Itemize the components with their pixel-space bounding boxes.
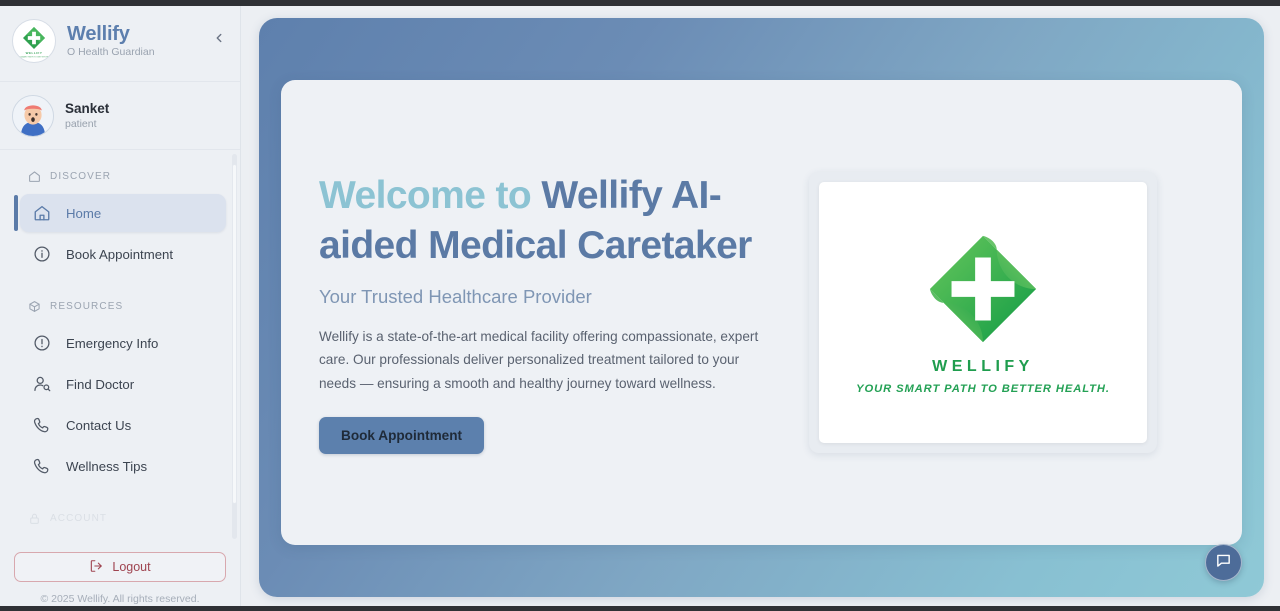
section-header-account-label: ACCOUNT [50,513,107,524]
nav-spacer [0,488,240,504]
user-profile-row[interactable]: Sanket patient [0,82,240,150]
sidebar-scrollbar-thumb[interactable] [232,164,237,504]
section-header-discover: DISCOVER [0,162,240,191]
app-window: WELLIFY YOUR SMART PATH TO BETTER HEALTH… [0,0,1280,611]
section-header-resources: RESOURCES [0,292,240,321]
section-header-resources-label: RESOURCES [50,301,123,312]
logout-label: Logout [112,560,150,574]
sidebar-item-contact-us-label: Contact Us [66,418,131,433]
sidebar-item-wellness-tips-label: Wellness Tips [66,459,147,474]
info-circle-icon [33,245,51,263]
user-avatar-icon [12,95,54,137]
section-header-discover-label: DISCOVER [50,171,111,182]
brand-text-group: Wellify O Health Guardian [67,23,155,58]
window-bottom-strip [0,606,1280,611]
logout-button[interactable]: Logout [14,552,226,582]
sidebar-item-book-appointment[interactable]: Book Appointment [20,235,226,273]
sidebar-item-home[interactable]: Home [20,194,226,232]
user-role: patient [65,118,109,130]
package-icon [28,300,41,313]
chat-fab-button[interactable] [1205,544,1242,581]
nav-spacer [0,276,240,292]
logout-icon [89,559,103,576]
message-square-icon [1215,552,1232,574]
section-header-account: ACCOUNT [0,504,240,533]
sidebar-item-emergency-info[interactable]: Emergency Info [20,324,226,362]
svg-text:YOUR SMART PATH TO BETTER HEAL: YOUR SMART PATH TO BETTER HEALTH [14,55,54,58]
logo-frame: WELLIFY YOUR SMART PATH TO BETTER HEALTH… [809,172,1157,453]
headline-light-part: Welcome to [319,174,541,217]
brand-name: Wellify [67,23,155,45]
user-search-icon [33,375,51,393]
main-content: Welcome to Wellify AI-aided Medical Care… [241,0,1280,611]
sidebar: WELLIFY YOUR SMART PATH TO BETTER HEALTH… [0,0,241,611]
page-title: Welcome to Wellify AI-aided Medical Care… [319,171,789,271]
hero-banner: Welcome to Wellify AI-aided Medical Care… [259,18,1264,597]
sidebar-item-emergency-info-label: Emergency Info [66,336,158,351]
hero-body-text: Wellify is a state-of-the-art medical fa… [319,325,771,395]
sidebar-item-contact-us[interactable]: Contact Us [20,406,226,444]
svg-text:WELLIFY: WELLIFY [26,51,43,55]
lock-icon [28,512,41,525]
alert-circle-icon [33,334,51,352]
sidebar-item-book-appointment-label: Book Appointment [66,247,173,262]
sidebar-item-wellness-tips[interactable]: Wellness Tips [20,447,226,485]
sidebar-item-find-doctor-label: Find Doctor [66,377,134,392]
user-meta-group: Sanket patient [65,101,109,131]
phone-icon [33,457,51,475]
sidebar-nav-scroll-area: DISCOVER Home Book Appointment RESOURCES [0,150,240,552]
user-name: Sanket [65,101,109,117]
hero-text-column: Welcome to Wellify AI-aided Medical Care… [319,171,789,454]
sidebar-item-find-doctor[interactable]: Find Doctor [20,365,226,403]
copyright-text: © 2025 Wellify. All rights reserved. [14,593,226,605]
home-outline-icon [28,170,41,183]
sidebar-item-home-label: Home [66,206,101,221]
logo-slogan: YOUR SMART PATH TO BETTER HEALTH. [856,383,1110,395]
window-top-strip [0,0,1280,6]
logo-wordmark: WELLIFY [932,358,1034,376]
sidebar-footer: Logout © 2025 Wellify. All rights reserv… [0,552,240,611]
home-icon [33,204,51,222]
hero-card: Welcome to Wellify AI-aided Medical Care… [281,80,1242,545]
brand-header: WELLIFY YOUR SMART PATH TO BETTER HEALTH… [0,0,240,82]
hero-subheadline: Your Trusted Healthcare Provider [319,286,789,308]
phone-icon [33,416,51,434]
logo-card: WELLIFY YOUR SMART PATH TO BETTER HEALTH… [819,182,1147,443]
brand-tagline: O Health Guardian [67,46,155,58]
wellify-cross-logo-icon: WELLIFY YOUR SMART PATH TO BETTER HEALTH [12,19,56,63]
book-appointment-button[interactable]: Book Appointment [319,417,484,454]
green-diamond-cross-icon [924,230,1042,348]
chevron-left-icon[interactable] [206,25,232,51]
